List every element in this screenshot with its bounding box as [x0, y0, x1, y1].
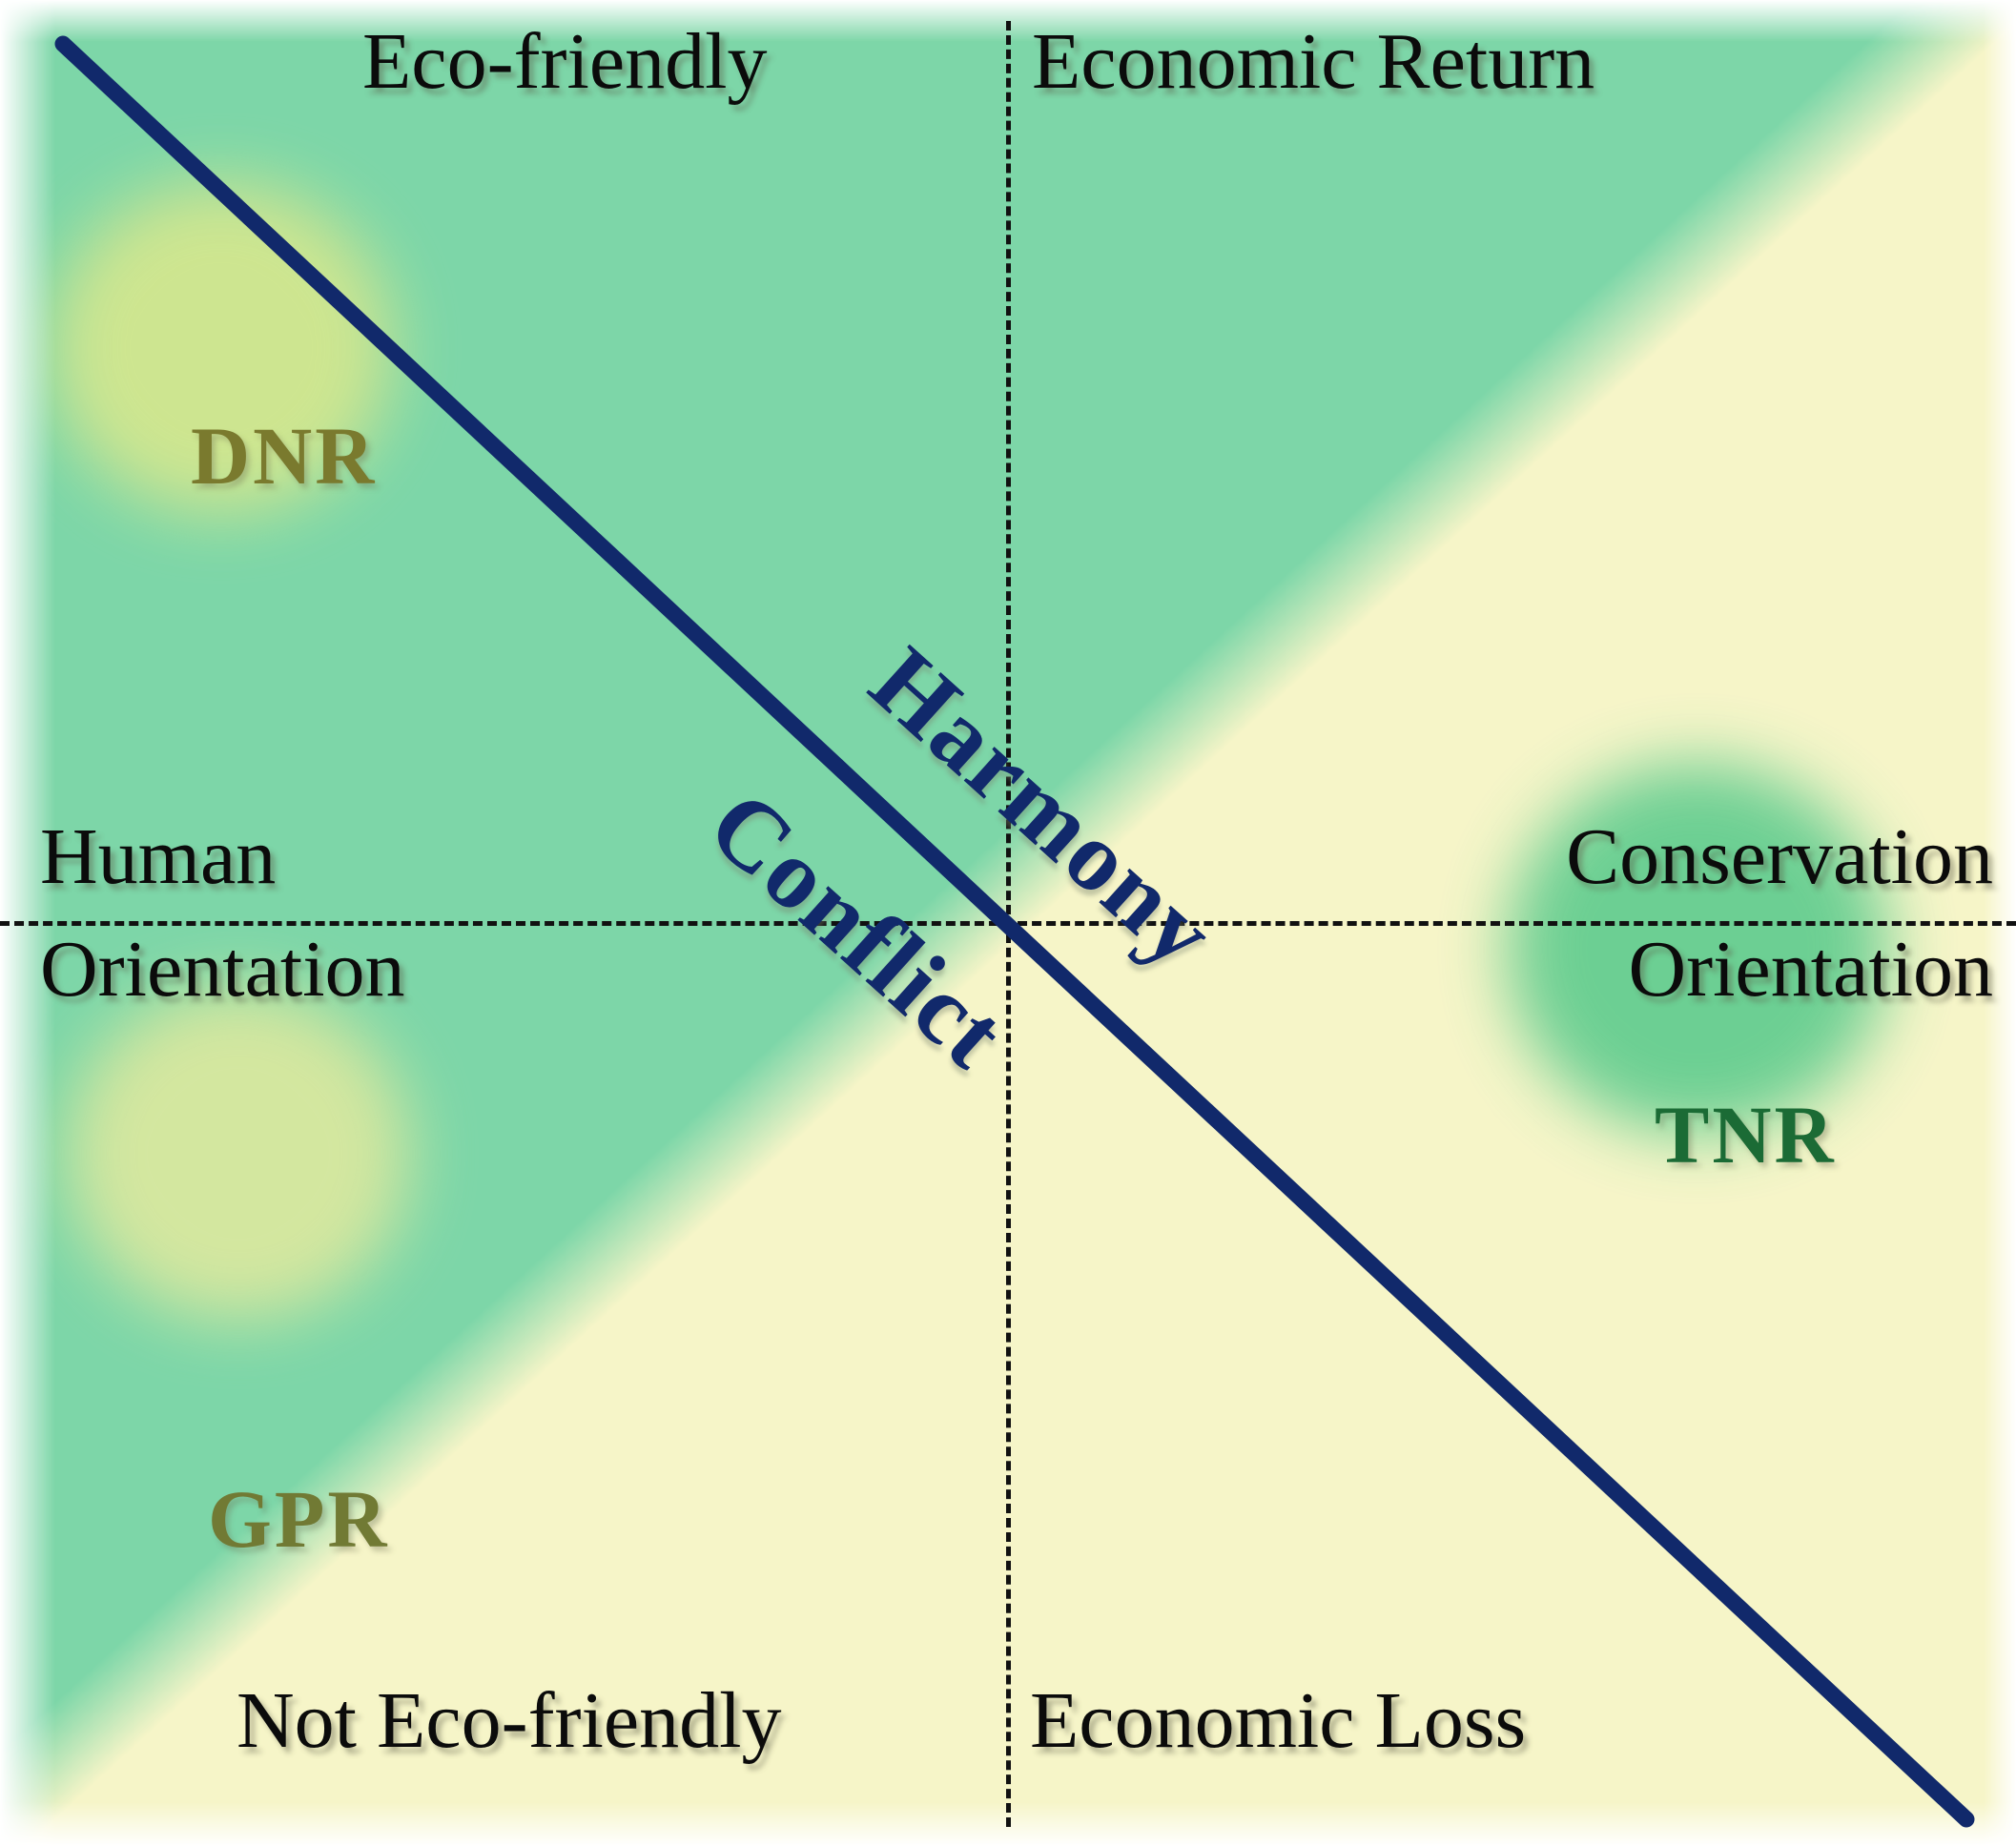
axis-label-not-eco-friendly: Not Eco-friendly: [237, 1680, 781, 1762]
vertical-axis-dashed-line: [1006, 21, 1011, 1827]
axis-label-human: Human: [40, 816, 276, 898]
marker-label-tnr: TNR: [1655, 1087, 1837, 1182]
axis-label-human-orientation: Orientation: [40, 929, 405, 1011]
axis-label-eco-friendly: Eco-friendly: [362, 21, 767, 103]
axis-label-economic-loss: Economic Loss: [1030, 1680, 1526, 1762]
marker-label-dnr: DNR: [191, 408, 377, 503]
axis-label-conservation: Conservation: [1566, 816, 1993, 898]
quadrant-diagram: Eco-friendly Economic Return Not Eco-fri…: [0, 0, 2016, 1846]
axis-label-economic-return: Economic Return: [1032, 21, 1594, 103]
axis-label-conservation-orientation: Orientation: [1628, 929, 1993, 1011]
marker-label-gpr: GPR: [208, 1471, 390, 1567]
gpr-marker-blob: [67, 987, 410, 1321]
